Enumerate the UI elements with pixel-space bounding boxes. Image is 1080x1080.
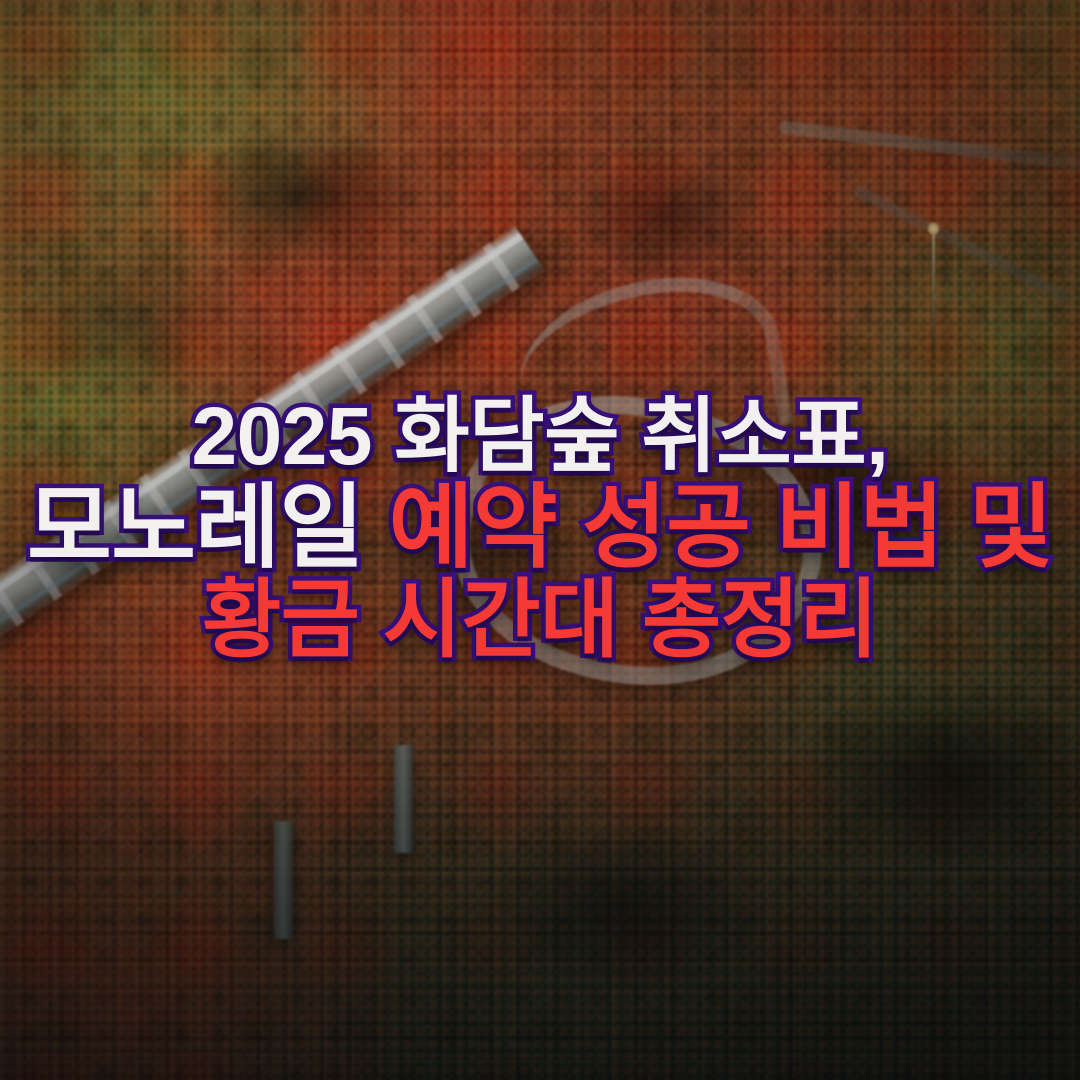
headline-line1-segment-1: 2025 화담숲 취소표,: [192, 391, 889, 482]
headline-line-1: 2025 화담숲 취소표,: [14, 396, 1066, 477]
headline-line2-segment-2: 예약 성공 비법 및: [389, 477, 1053, 579]
headline-line-3: 황금 시간대 총정리: [14, 578, 1066, 663]
headline-line2-segment-1: 모노레일: [27, 477, 389, 579]
thumbnail-card: 2025 화담숲 취소표, 모노레일 예약 성공 비법 및 황금 시간대 총정리: [0, 0, 1080, 1080]
headline-line-2: 모노레일 예약 성공 비법 및: [14, 483, 1066, 574]
headline-block: 2025 화담숲 취소표, 모노레일 예약 성공 비법 및 황금 시간대 총정리: [0, 396, 1080, 663]
headline-line3-segment-1: 황금 시간대 총정리: [202, 572, 878, 668]
